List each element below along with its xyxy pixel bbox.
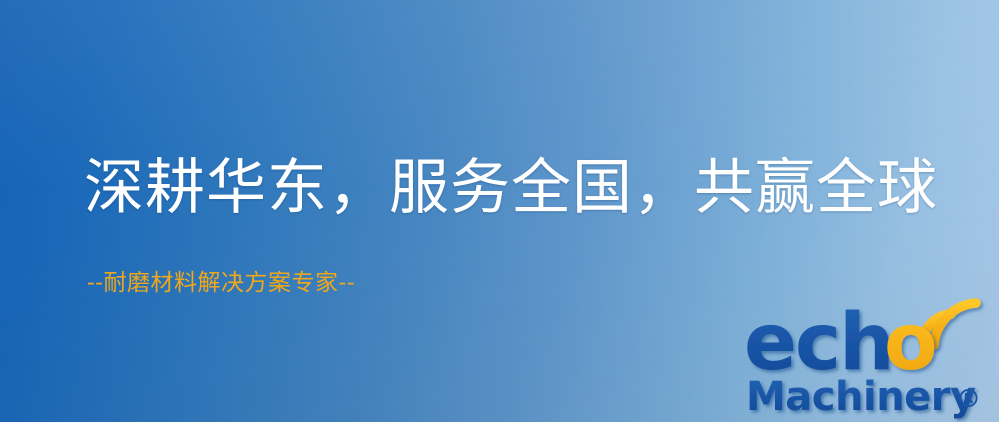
- echo-machinery-logo[interactable]: ech o Machinery ®: [740, 296, 999, 422]
- promotional-banner: 深耕华东，服务全国，共赢全球 --耐磨材料解决方案专家--: [0, 0, 999, 422]
- registered-trademark-symbol: ®: [956, 384, 981, 413]
- banner-headline: 深耕华东，服务全国，共赢全球: [84, 152, 938, 224]
- logo-tagline: Machinery: [746, 374, 976, 420]
- banner-subtitle: --耐磨材料解决方案专家--: [87, 268, 355, 298]
